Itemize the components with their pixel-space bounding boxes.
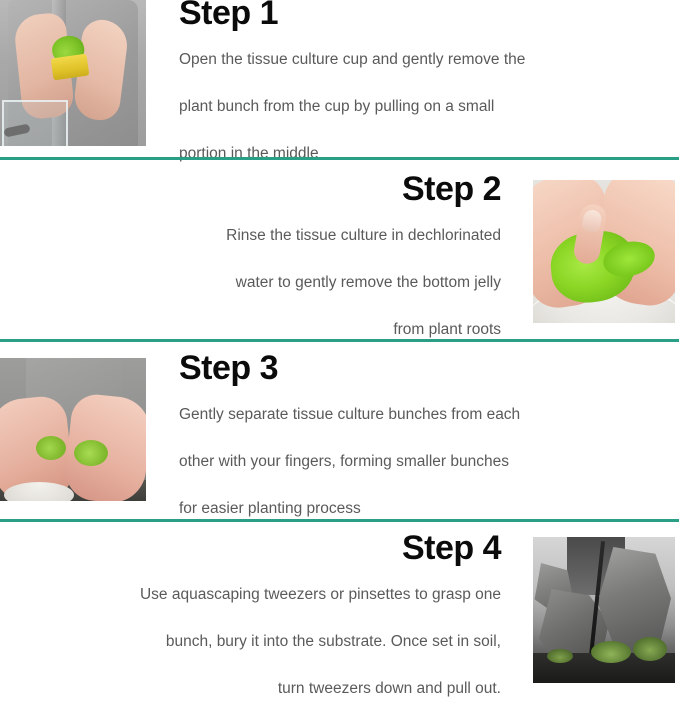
step-3-body: Step 3 Gently separate tissue culture bu…	[179, 351, 639, 526]
step-2-body: Step 2 Rinse the tissue culture in dechl…	[40, 172, 501, 347]
step-3-image	[0, 358, 146, 501]
step-row-2: Step 2 Rinse the tissue culture in dechl…	[0, 161, 679, 339]
step-1-line-2: plant bunch from the cup by pulling on a…	[179, 89, 639, 124]
step-row-1: Step 1 Open the tissue culture cup and g…	[0, 0, 679, 157]
step-4-body: Step 4 Use aquascaping tweezers or pinse…	[40, 531, 501, 706]
divider-1	[0, 157, 679, 160]
divider-3	[0, 519, 679, 522]
step-row-4: Step 4 Use aquascaping tweezers or pinse…	[0, 523, 679, 683]
photo-opening-tissue-culture-cup	[0, 0, 146, 146]
step-1-line-1: Open the tissue culture cup and gently r…	[179, 42, 639, 77]
step-1-title: Step 1	[179, 0, 639, 30]
step-4-line-3: turn tweezers down and pull out.	[40, 671, 501, 706]
step-3-line-2: other with your fingers, forming smaller…	[179, 444, 639, 479]
divider-2	[0, 339, 679, 342]
step-3-title: Step 3	[179, 351, 639, 385]
step-1-image	[0, 0, 146, 146]
step-4-line-2: bunch, bury it into the substrate. Once …	[40, 624, 501, 659]
step-2-image	[533, 180, 675, 323]
step-1-body: Step 1 Open the tissue culture cup and g…	[179, 0, 639, 171]
step-2-line-1: Rinse the tissue culture in dechlorinate…	[40, 218, 501, 253]
step-4-image	[533, 537, 675, 683]
step-row-3: Step 3 Gently separate tissue culture bu…	[0, 343, 679, 519]
step-4-line-1: Use aquascaping tweezers or pinsettes to…	[40, 577, 501, 612]
step-2-line-2: water to gently remove the bottom jelly	[40, 265, 501, 300]
step-4-title: Step 4	[40, 531, 501, 565]
photo-aquascape-rocks-with-tweezers	[533, 537, 675, 683]
instruction-infographic: Step 1 Open the tissue culture cup and g…	[0, 0, 679, 683]
photo-separating-plant-bunches	[0, 358, 146, 501]
step-3-line-1: Gently separate tissue culture bunches f…	[179, 397, 639, 432]
step-2-title: Step 2	[40, 172, 501, 206]
photo-rinsing-plant-in-bowl	[533, 180, 675, 323]
